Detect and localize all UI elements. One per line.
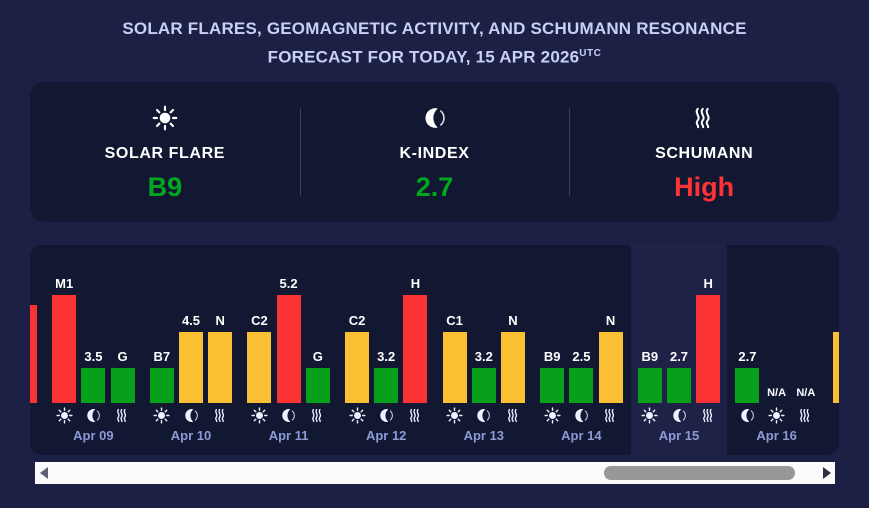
bar-schumann[interactable]: H [403,245,427,455]
bar-value-label: 3.5 [84,349,102,364]
summary-metric-label: K-INDEX [400,145,470,163]
forecast-chart-panel: M13.5 GApr 09B74.5 NApr 10C25.2 GApr 11C… [30,245,839,455]
bar-k-index[interactable]: 4.5 [179,245,203,455]
bar-schumann[interactable]: G [111,245,135,455]
scroll-right-arrow-icon[interactable] [818,462,835,484]
bar-solar-flare[interactable]: M1 [52,245,76,455]
summary-metric-value: 2.7 [416,173,454,201]
schumann-icon [307,405,329,425]
bar-rect[interactable] [345,332,369,403]
day-label: Apr 16 [756,428,796,443]
day-label: Apr 10 [171,428,211,443]
page-title: SOLAR FLARES, GEOMAGNETIC ACTIVITY, AND … [0,0,869,70]
bar-solar-flare[interactable]: B9 [540,245,564,455]
summary-metric-label: SCHUMANN [655,145,753,163]
summary-card: SOLAR FLAREB9 K-INDEX2.7SCHUMANNHigh [30,82,839,222]
bar-value-label: H [411,276,420,291]
bar-rect[interactable] [696,295,720,403]
schumann-icon [691,103,717,133]
schumann-icon [30,405,36,425]
bar-value-label: N [508,313,517,328]
horizontal-scrollbar[interactable] [35,462,835,484]
bar-rect[interactable] [247,332,271,403]
bar-rect[interactable] [306,368,330,403]
scrollbar-thumb[interactable] [604,466,796,480]
bar-k-index[interactable]: 4 [833,245,839,455]
bar-value-label: 2.7 [738,349,756,364]
bar-rect[interactable] [667,368,691,403]
bar-rect[interactable] [111,368,135,403]
bar-rect[interactable] [81,368,105,403]
page-title-line-1: SOLAR FLARES, GEOMAGNETIC ACTIVITY, AND … [0,16,869,41]
bar-rect[interactable] [569,368,593,403]
day-label: Apr 13 [464,428,504,443]
bar-k-index[interactable]: 3.5 [81,245,105,455]
bar-solar-flare[interactable]: B9 [638,245,662,455]
summary-metric-schumann: SCHUMANNHigh [569,82,839,222]
schumann-icon [209,405,231,425]
bar-solar-flare[interactable]: B7 [150,245,174,455]
bar-value-label: G [313,349,323,364]
moon-icon [180,405,202,425]
sun-icon [541,405,563,425]
bar-value-label: 2.5 [572,349,590,364]
summary-metric-label: SOLAR FLARE [105,145,225,163]
bar-schumann[interactable]: N [599,245,623,455]
bar-rect[interactable] [277,295,301,403]
bar-schumann[interactable]: N/A [794,245,818,455]
utc-superscript: UTC [579,48,601,59]
bar-value-label: 3.2 [377,349,395,364]
bar-value-label: N/A [767,387,786,399]
bar-value-label: G [118,349,128,364]
bar-value-label: 3.2 [475,349,493,364]
sun-icon [53,405,75,425]
bar-rect[interactable] [735,368,759,403]
bar-value-label: M1 [55,276,73,291]
day-label: Apr 09 [73,428,113,443]
bar-rect[interactable] [472,368,496,403]
bar-value-label: 5.2 [280,276,298,291]
bar-schumann[interactable] [30,245,37,455]
bar-k-index[interactable]: 3.2 [374,245,398,455]
day-label: Apr 14 [561,428,601,443]
bar-value-label: B9 [641,349,658,364]
moon-icon [375,405,397,425]
bar-schumann[interactable]: G [306,245,330,455]
bar-k-index[interactable]: 2.7 [667,245,691,455]
moon-icon [570,405,592,425]
bar-rect[interactable] [599,332,623,403]
sun-icon [152,103,178,133]
bar-solar-flare[interactable]: N/A [765,245,789,455]
schumann-icon [600,405,622,425]
bar-rect[interactable] [179,332,203,403]
sun-icon [639,405,661,425]
bar-rect[interactable] [208,332,232,403]
moon-icon [422,103,448,133]
page-title-line-2: FORECAST FOR TODAY, 15 APR 2026UTC [0,41,869,70]
schumann-icon [112,405,134,425]
bar-k-index[interactable]: 3.2 [472,245,496,455]
scrollbar-track[interactable] [52,462,818,484]
summary-metric-solar-flare: SOLAR FLAREB9 [30,82,300,222]
bar-value-label: 2.7 [670,349,688,364]
bar-schumann[interactable]: N [501,245,525,455]
bar-value-label: C1 [446,313,463,328]
moon-icon [834,405,839,425]
sun-icon [248,405,270,425]
scroll-left-arrow-icon[interactable] [35,462,52,484]
schumann-icon [404,405,426,425]
schumann-icon [697,405,719,425]
bar-rect[interactable] [374,368,398,403]
moon-icon [82,405,104,425]
moon-icon [736,405,758,425]
bar-k-index[interactable]: 5.2 [277,245,301,455]
chart-plot-area: M13.5 GApr 09B74.5 NApr 10C25.2 GApr 11C… [30,245,839,455]
summary-metric-value: High [674,173,734,201]
bar-schumann[interactable]: H [696,245,720,455]
summary-metric-k-index: K-INDEX2.7 [300,82,570,222]
bar-value-label: B9 [544,349,561,364]
bar-solar-flare[interactable]: C2 [247,245,271,455]
sun-icon [766,405,788,425]
bar-rect[interactable] [540,368,564,403]
bar-value-label: B7 [153,349,170,364]
bar-value-label: N [215,313,224,328]
bar-rect[interactable] [443,332,467,403]
day-label: Apr 15 [659,428,699,443]
page-title-line-2-text: FORECAST FOR TODAY, 15 APR 2026 [268,48,580,67]
summary-metric-value: B9 [148,173,183,201]
sun-icon [346,405,368,425]
moon-icon [278,405,300,425]
bar-rect[interactable] [638,368,662,403]
bar-value-label: N/A [796,387,815,399]
bar-k-index[interactable]: 2.5 [569,245,593,455]
moon-icon [473,405,495,425]
sun-icon [151,405,173,425]
bar-k-index[interactable]: 2.7 [735,245,759,455]
bar-value-label: C2 [349,313,366,328]
day-label: Apr 11 [269,428,309,443]
bar-solar-flare[interactable]: C2 [345,245,369,455]
schumann-icon [502,405,524,425]
bar-rect[interactable] [403,295,427,403]
bar-value-label: H [703,276,712,291]
bar-solar-flare[interactable]: C1 [443,245,467,455]
bar-value-label: C2 [251,313,268,328]
moon-icon [668,405,690,425]
schumann-icon [795,405,817,425]
bar-value-label: N [606,313,615,328]
bar-rect[interactable] [833,332,839,403]
day-label: Apr 12 [366,428,406,443]
bar-schumann[interactable]: N [208,245,232,455]
bar-rect[interactable] [501,332,525,403]
bar-rect[interactable] [52,295,76,403]
bar-value-label: 4.5 [182,313,200,328]
sun-icon [444,405,466,425]
bar-rect[interactable] [30,305,37,403]
bar-rect[interactable] [150,368,174,403]
